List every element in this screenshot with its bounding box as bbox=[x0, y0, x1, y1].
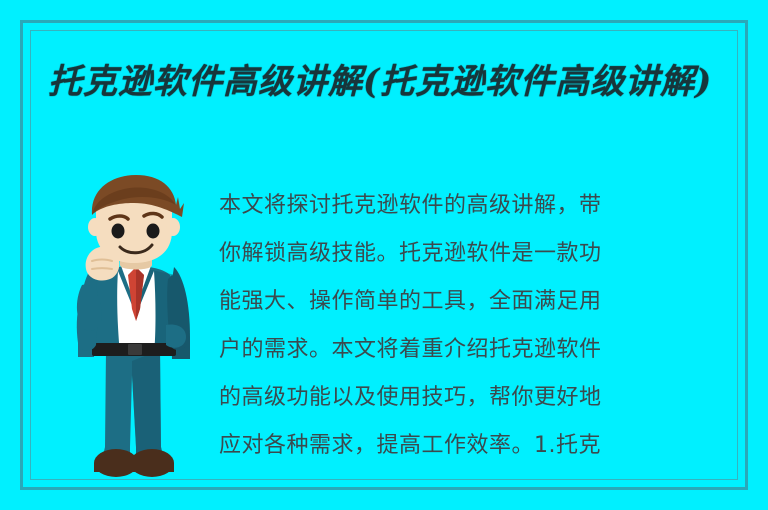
body-line: 应对各种需求，提高工作效率。1.托克 bbox=[219, 422, 727, 470]
thinking-businessman-illustration bbox=[58, 175, 208, 480]
body-line: 本文将探讨托克逊软件的高级讲解，带 bbox=[219, 182, 727, 230]
article-card: 托克逊软件高级讲解(托克逊软件高级讲解) bbox=[0, 0, 768, 510]
body-line: 户的需求。本文将着重介绍托克逊软件 bbox=[219, 326, 727, 374]
page-title: 托克逊软件高级讲解(托克逊软件高级讲解) bbox=[48, 55, 720, 109]
body-line: 的高级功能以及使用技巧，帮你更好地 bbox=[219, 374, 727, 422]
body-line: 能强大、操作简单的工具，全面满足用 bbox=[219, 278, 727, 326]
article-body: 本文将探讨托克逊软件的高级讲解，带 你解锁高级技能。托克逊软件是一款功 能强大、… bbox=[219, 182, 727, 470]
body-line: 你解锁高级技能。托克逊软件是一款功 bbox=[219, 230, 727, 278]
